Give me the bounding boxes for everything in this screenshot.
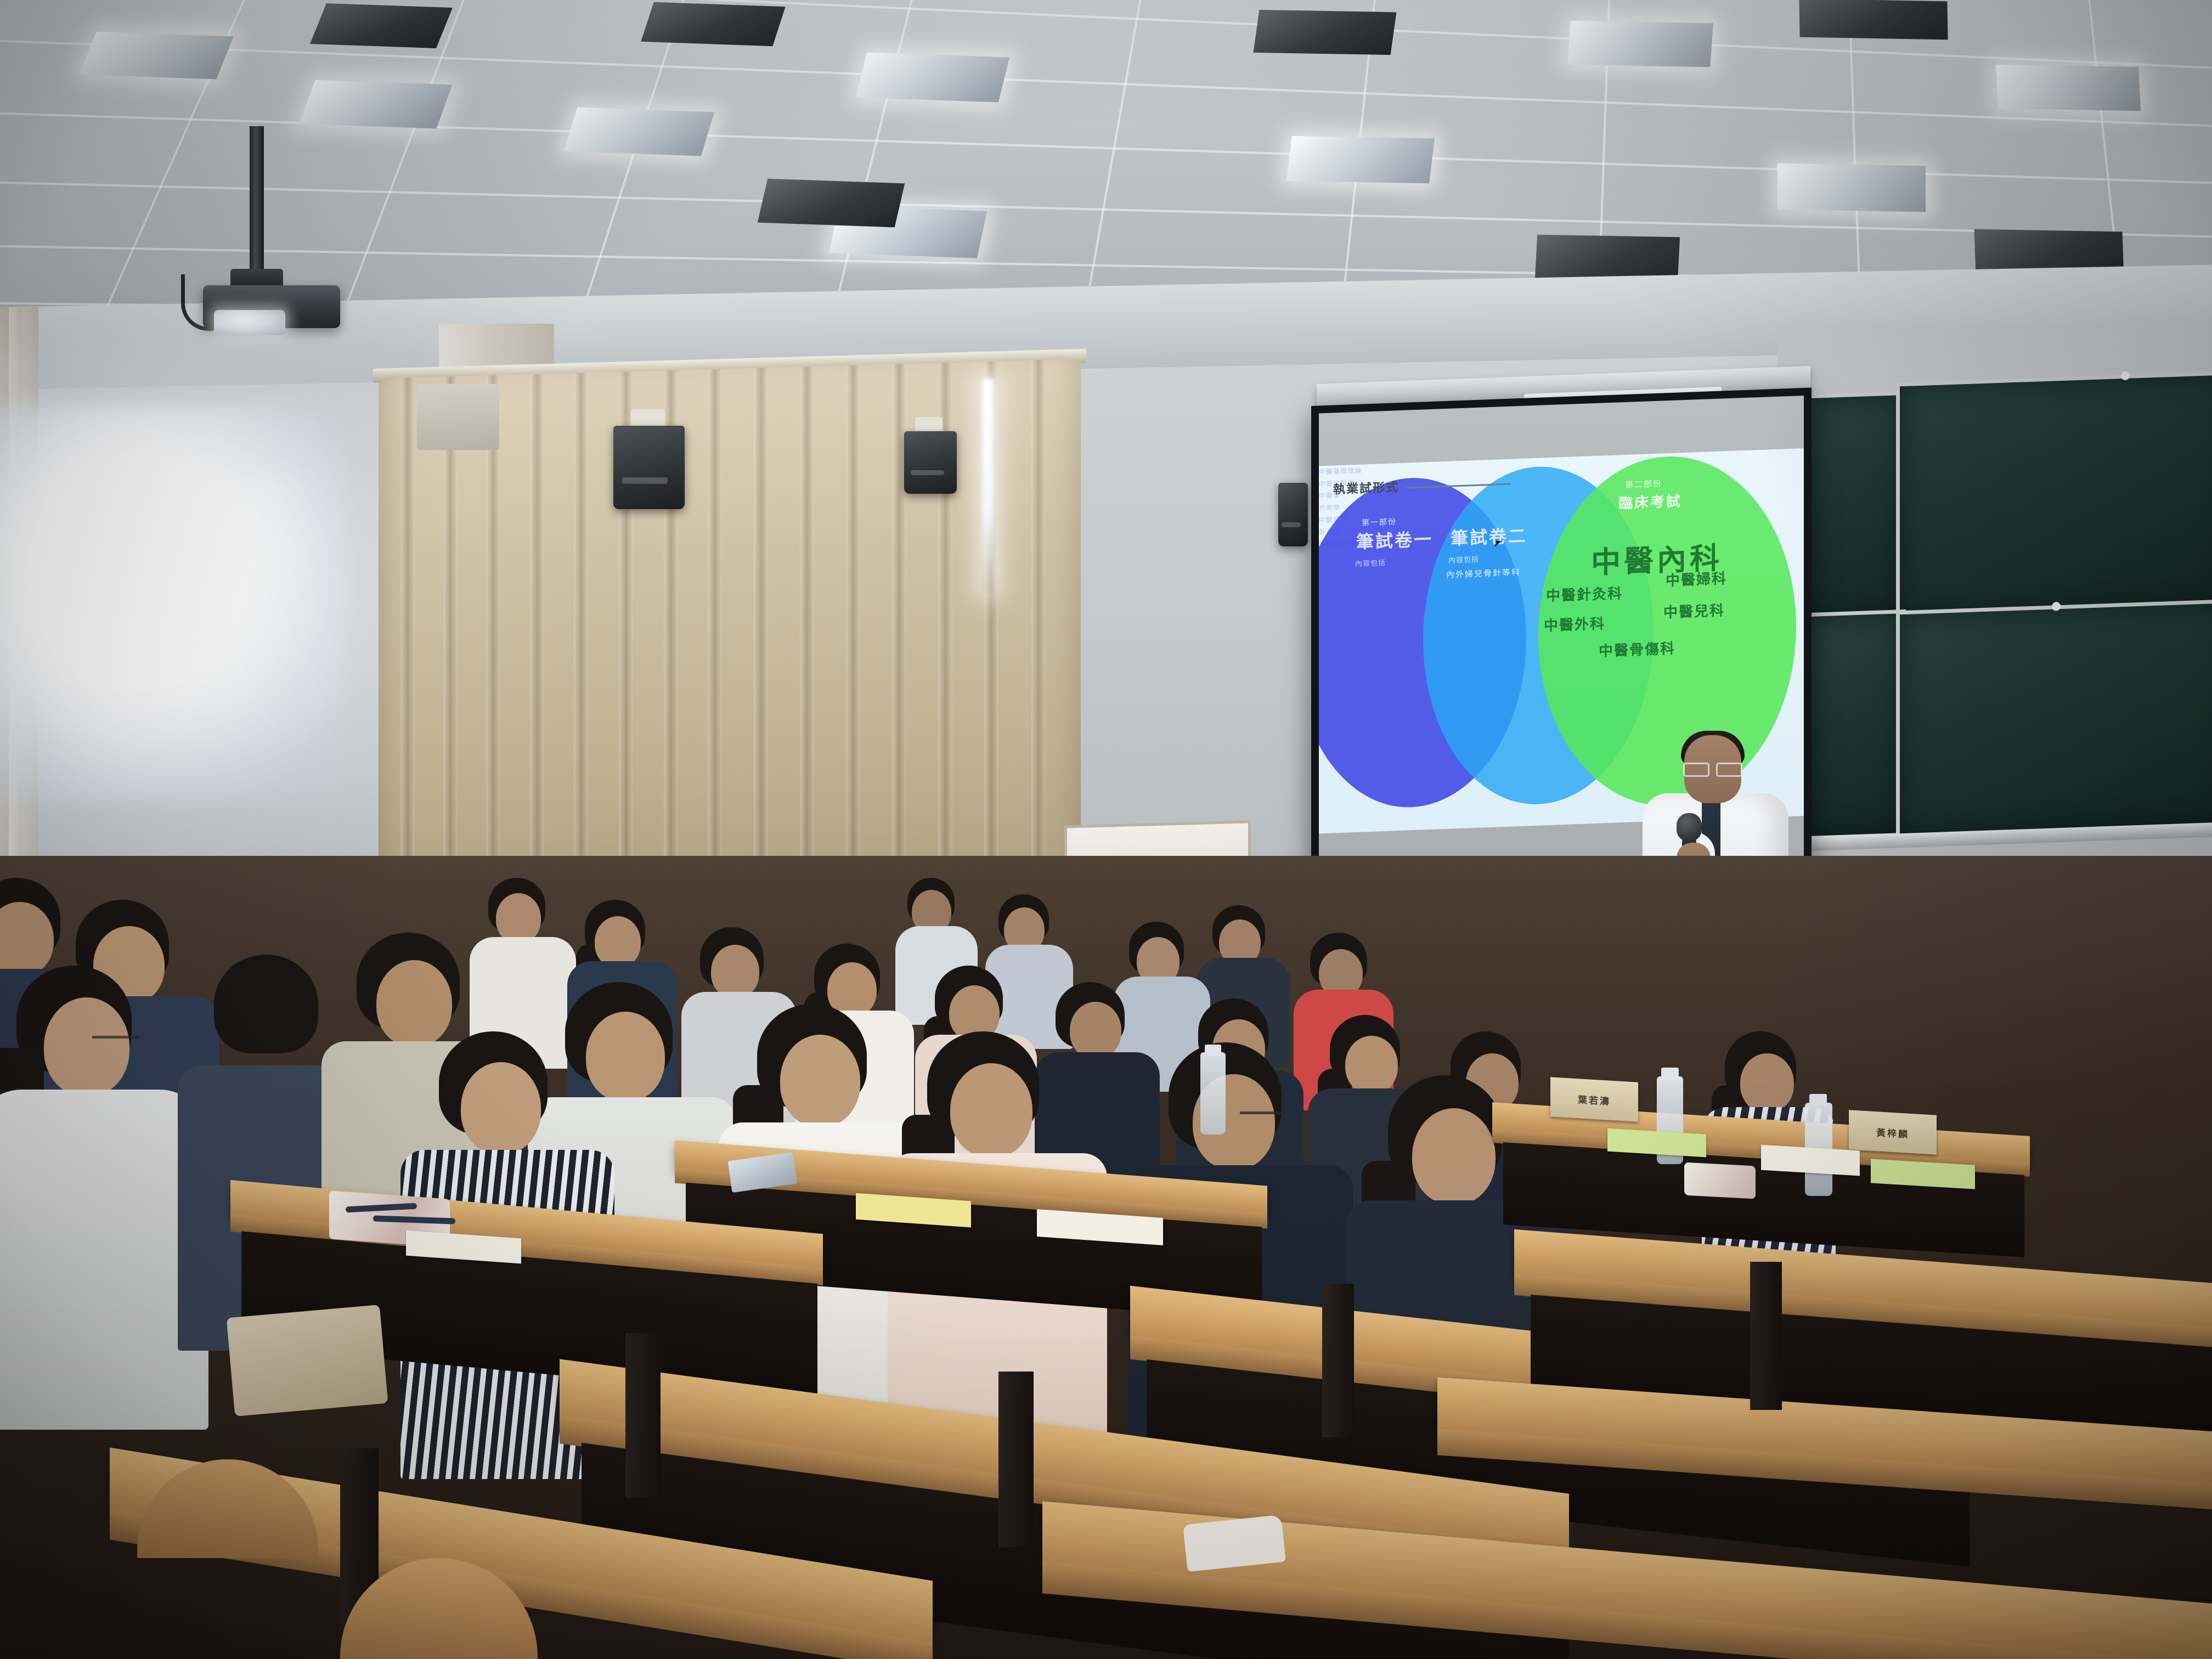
window-light-gap xyxy=(982,379,994,592)
ceiling-light-fixture xyxy=(1778,163,1926,212)
ceiling-vent xyxy=(1799,0,1948,39)
ceiling-light-fixture xyxy=(299,80,452,129)
handheld-microphone-icon xyxy=(1677,813,1702,842)
bottle-cap xyxy=(1205,1045,1221,1056)
ceiling-light-fixture xyxy=(1567,21,1713,67)
green-subtitle: 第二部份 xyxy=(1625,478,1662,490)
ceiling-light-fixture xyxy=(79,32,234,80)
pencil-case xyxy=(1684,1163,1756,1199)
desk-leg xyxy=(1322,1284,1354,1437)
green-heading: 臨床考試 xyxy=(1618,490,1682,512)
ceiling-vent xyxy=(310,3,453,48)
wall-speaker xyxy=(904,431,957,494)
classroom-photo: 執業試形式 第一部份 筆試卷一 內容包括 中醫基礎理論 中醫診斷學 中藥學 方劑… xyxy=(0,0,2212,1659)
ceiling-light-fixture xyxy=(856,52,1009,102)
green-sub-subject: 中醫兒科 xyxy=(1663,599,1725,622)
handbag xyxy=(227,1305,388,1417)
desk-leg xyxy=(998,1372,1034,1547)
blue-heading: 筆試卷一 xyxy=(1356,526,1433,554)
ceiling-light-fixture xyxy=(564,108,714,156)
wall-speaker xyxy=(613,426,685,509)
blackboard-panel xyxy=(1896,599,2212,838)
green-sub-subject: 中醫骨傷科 xyxy=(1599,637,1675,661)
name-placard-text: 黃梓麟 xyxy=(1876,1125,1909,1141)
green-sub-subject: 中醫婦科 xyxy=(1666,567,1727,590)
name-placard: 黃梓麟 xyxy=(1849,1110,1937,1155)
ceiling-vent xyxy=(641,2,785,46)
water-bottle xyxy=(1200,1052,1226,1135)
projector-mount-pole xyxy=(250,126,264,277)
blackboard xyxy=(1794,363,2212,872)
wall-speaker xyxy=(1278,483,1308,546)
green-sub-subject: 中醫外科 xyxy=(1544,612,1605,635)
glasses-icon xyxy=(1683,763,1742,774)
blue-includes-label: 內容包括 xyxy=(1355,557,1386,568)
ceiling-vent xyxy=(758,179,905,228)
slide-title: 執業試形式 xyxy=(1333,477,1399,497)
ceiling-vent xyxy=(1254,10,1397,55)
cyan-includes-label: 內容包括 xyxy=(1448,554,1479,565)
desk-leg xyxy=(625,1333,661,1498)
ceiling-light-fixture xyxy=(1996,65,2141,111)
bottle-cap xyxy=(1661,1068,1679,1080)
desk-leg xyxy=(1750,1262,1782,1410)
green-sub-subject: 中醫針灸科 xyxy=(1546,582,1623,605)
glasses-icon xyxy=(1240,1111,1288,1126)
blue-subtitle: 第一部份 xyxy=(1362,516,1397,528)
ceiling-light-fixture xyxy=(1286,136,1435,184)
bottle-cap xyxy=(1809,1094,1827,1106)
glasses-icon xyxy=(92,1036,139,1051)
name-placard: 葉若濤 xyxy=(1550,1077,1638,1122)
cyan-heading: 筆試卷二 xyxy=(1451,522,1527,550)
wall-ac-unit xyxy=(417,384,499,450)
blackboard-panel xyxy=(1896,371,2212,620)
name-placard-text: 葉若濤 xyxy=(1578,1092,1611,1108)
